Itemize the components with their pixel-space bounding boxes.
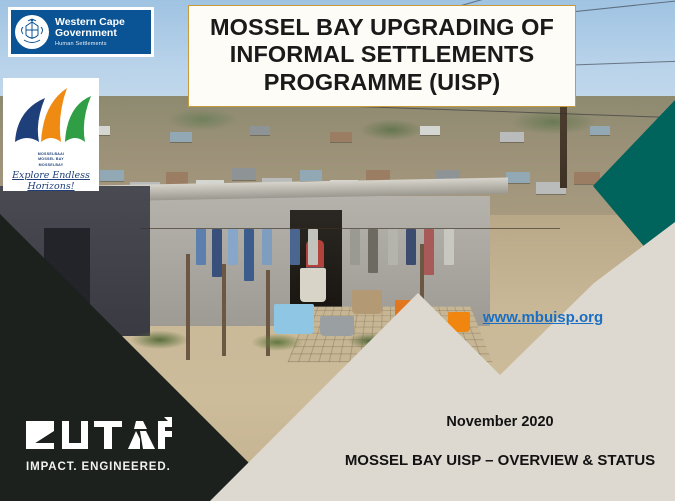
photo-laundry-item <box>228 229 238 265</box>
photo-shack <box>250 126 270 135</box>
coat-of-arms-icon <box>15 15 49 49</box>
photo-laundry-item <box>212 229 222 277</box>
photo-laundry-item <box>290 229 300 265</box>
photo-laundry-item <box>368 229 378 273</box>
photo-laundry-item <box>424 229 434 275</box>
photo-container <box>352 290 382 314</box>
zutari-tagline: IMPACT. ENGINEERED. <box>26 461 172 473</box>
photo-shack <box>420 126 440 135</box>
photo-shack <box>100 170 124 181</box>
photo-laundry-item <box>308 229 318 265</box>
zutari-wordmark-icon <box>24 417 172 455</box>
photo-shack <box>300 170 322 181</box>
photo-laundry-item <box>444 229 454 265</box>
photo-shack <box>170 132 192 142</box>
photo-shack <box>644 172 672 184</box>
photo-shack <box>500 132 524 142</box>
presentation-date: November 2020 <box>340 414 660 430</box>
title-box: MOSSEL BAY UPGRADING OF INFORMAL SETTLEM… <box>188 5 576 107</box>
photo-shack <box>506 172 530 183</box>
photo-laundry-item <box>196 229 206 265</box>
wcg-logo-text: Western Cape Government Human Settlement… <box>55 17 125 48</box>
photo-dark-shed <box>0 186 150 336</box>
photo-bushes <box>0 320 420 356</box>
photo-laundry-item <box>262 229 272 265</box>
wcg-name-line-1: Western Cape <box>55 17 125 28</box>
photo-laundry-item <box>406 229 416 265</box>
presentation-subtitle: MOSSEL BAY UISP – OVERVIEW & STATUS <box>330 451 670 470</box>
project-website-link[interactable]: www.mbuisp.org <box>398 309 675 326</box>
wcg-department: Human Settlements <box>55 42 125 48</box>
photo-shed-door <box>44 228 90 328</box>
photo-shack <box>574 172 600 184</box>
photo-bucket <box>460 356 480 368</box>
photo-container <box>300 268 326 302</box>
photo-shack <box>330 132 352 142</box>
wcg-logo-bar: Western Cape Government Human Settlement… <box>11 10 151 54</box>
photo-shack <box>590 126 610 135</box>
mossel-bay-tagline: Explore Endless Horizons! <box>3 170 99 191</box>
photo-shack <box>232 168 256 180</box>
photo-laundry-item <box>388 229 398 265</box>
mossel-bay-names: MOSSELBAAIMOSSEL BAYMOSSELBAY <box>3 152 99 168</box>
zutari-logo: IMPACT. ENGINEERED. <box>24 417 172 473</box>
mossel-bay-municipality-logo: MOSSELBAAIMOSSEL BAYMOSSELBAY Explore En… <box>3 78 99 191</box>
sails-icon <box>9 84 93 156</box>
presentation-title-slide: Western Cape Government Human Settlement… <box>0 0 675 501</box>
photo-laundry-item <box>350 229 360 265</box>
photo-laundry-item <box>244 229 254 281</box>
western-cape-government-logo: Western Cape Government Human Settlement… <box>8 7 154 57</box>
page-title: MOSSEL BAY UPGRADING OF INFORMAL SETTLEM… <box>199 14 565 96</box>
photo-shack <box>608 182 638 194</box>
wcg-name-line-2: Government <box>55 28 125 39</box>
photo-shack <box>166 172 188 184</box>
